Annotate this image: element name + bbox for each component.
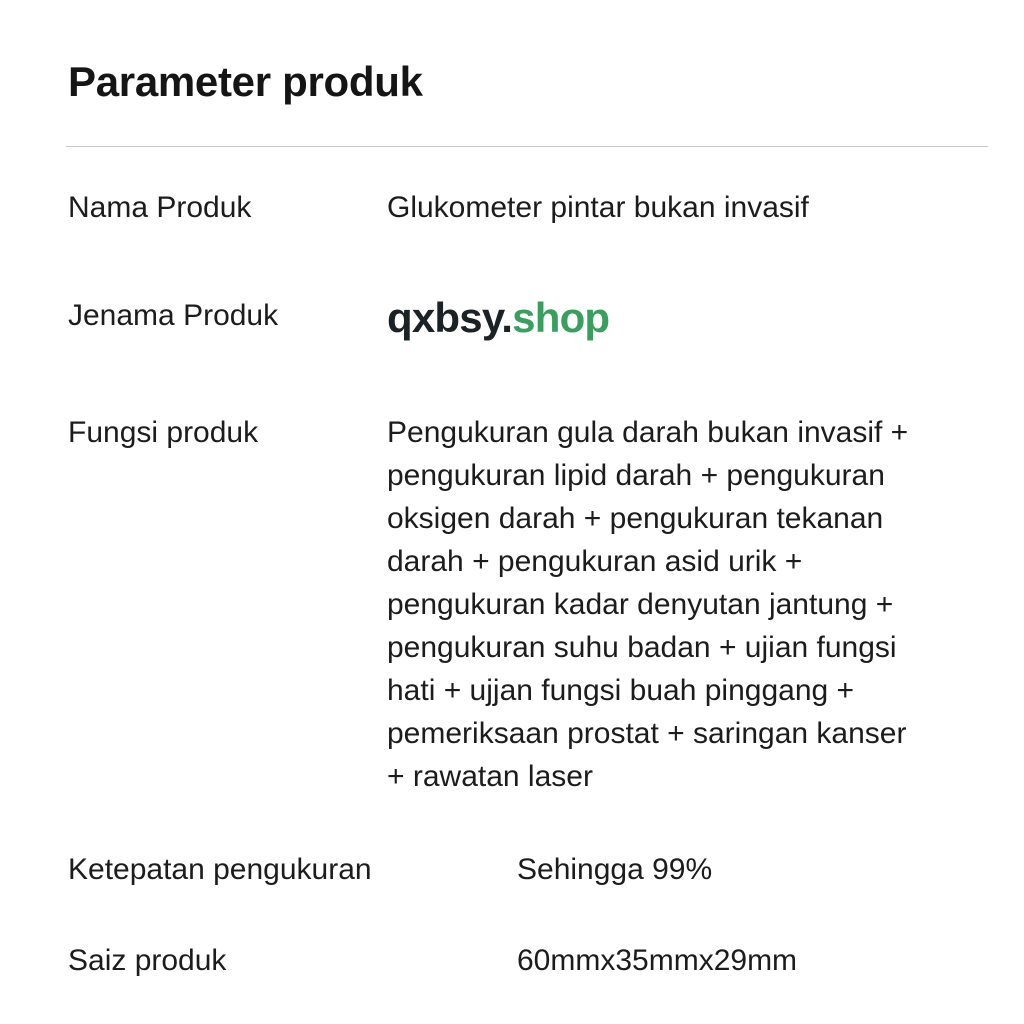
spec-label-brand: Jenama Produk — [0, 294, 387, 337]
table-row: Ketepatan pengukuran Sehingga 99% — [0, 848, 1024, 891]
spec-label-size: Saiz produk — [0, 939, 387, 982]
table-row: Saiz produk 60mmx35mmx29mm — [0, 939, 1024, 982]
brand-tld-text: shop — [512, 294, 609, 341]
spec-table: Nama Produk Glukometer pintar bukan inva… — [0, 170, 1024, 982]
function-description-text: Pengukuran gula darah bukan invasif + pe… — [387, 411, 927, 798]
spec-label-function: Fungsi produk — [0, 411, 387, 454]
brand-name-text: qxbsy — [387, 294, 501, 341]
table-row: Jenama Produk qxbsy.shop — [0, 294, 1024, 344]
spec-value-product-name: Glukometer pintar bukan invasif — [387, 186, 1024, 229]
brand-logo: qxbsy.shop — [387, 294, 609, 341]
spec-value-accuracy: Sehingga 99% — [387, 848, 1024, 891]
spec-value-function: Pengukuran gula darah bukan invasif + pe… — [387, 411, 1024, 798]
brand-dot-text: . — [501, 294, 512, 341]
title-divider — [66, 146, 988, 147]
table-row: Nama Produk Glukometer pintar bukan inva… — [0, 186, 1024, 229]
table-row: Fungsi produk Pengukuran gula darah buka… — [0, 411, 1024, 798]
product-parameter-page: Parameter produk Nama Produk Glukometer … — [0, 0, 1024, 1024]
spec-value-size: 60mmx35mmx29mm — [387, 939, 1024, 982]
page-title: Parameter produk — [68, 57, 423, 107]
spec-label-accuracy: Ketepatan pengukuran — [0, 848, 387, 891]
spec-value-brand: qxbsy.shop — [387, 294, 1024, 344]
spec-label-product-name: Nama Produk — [0, 186, 387, 229]
